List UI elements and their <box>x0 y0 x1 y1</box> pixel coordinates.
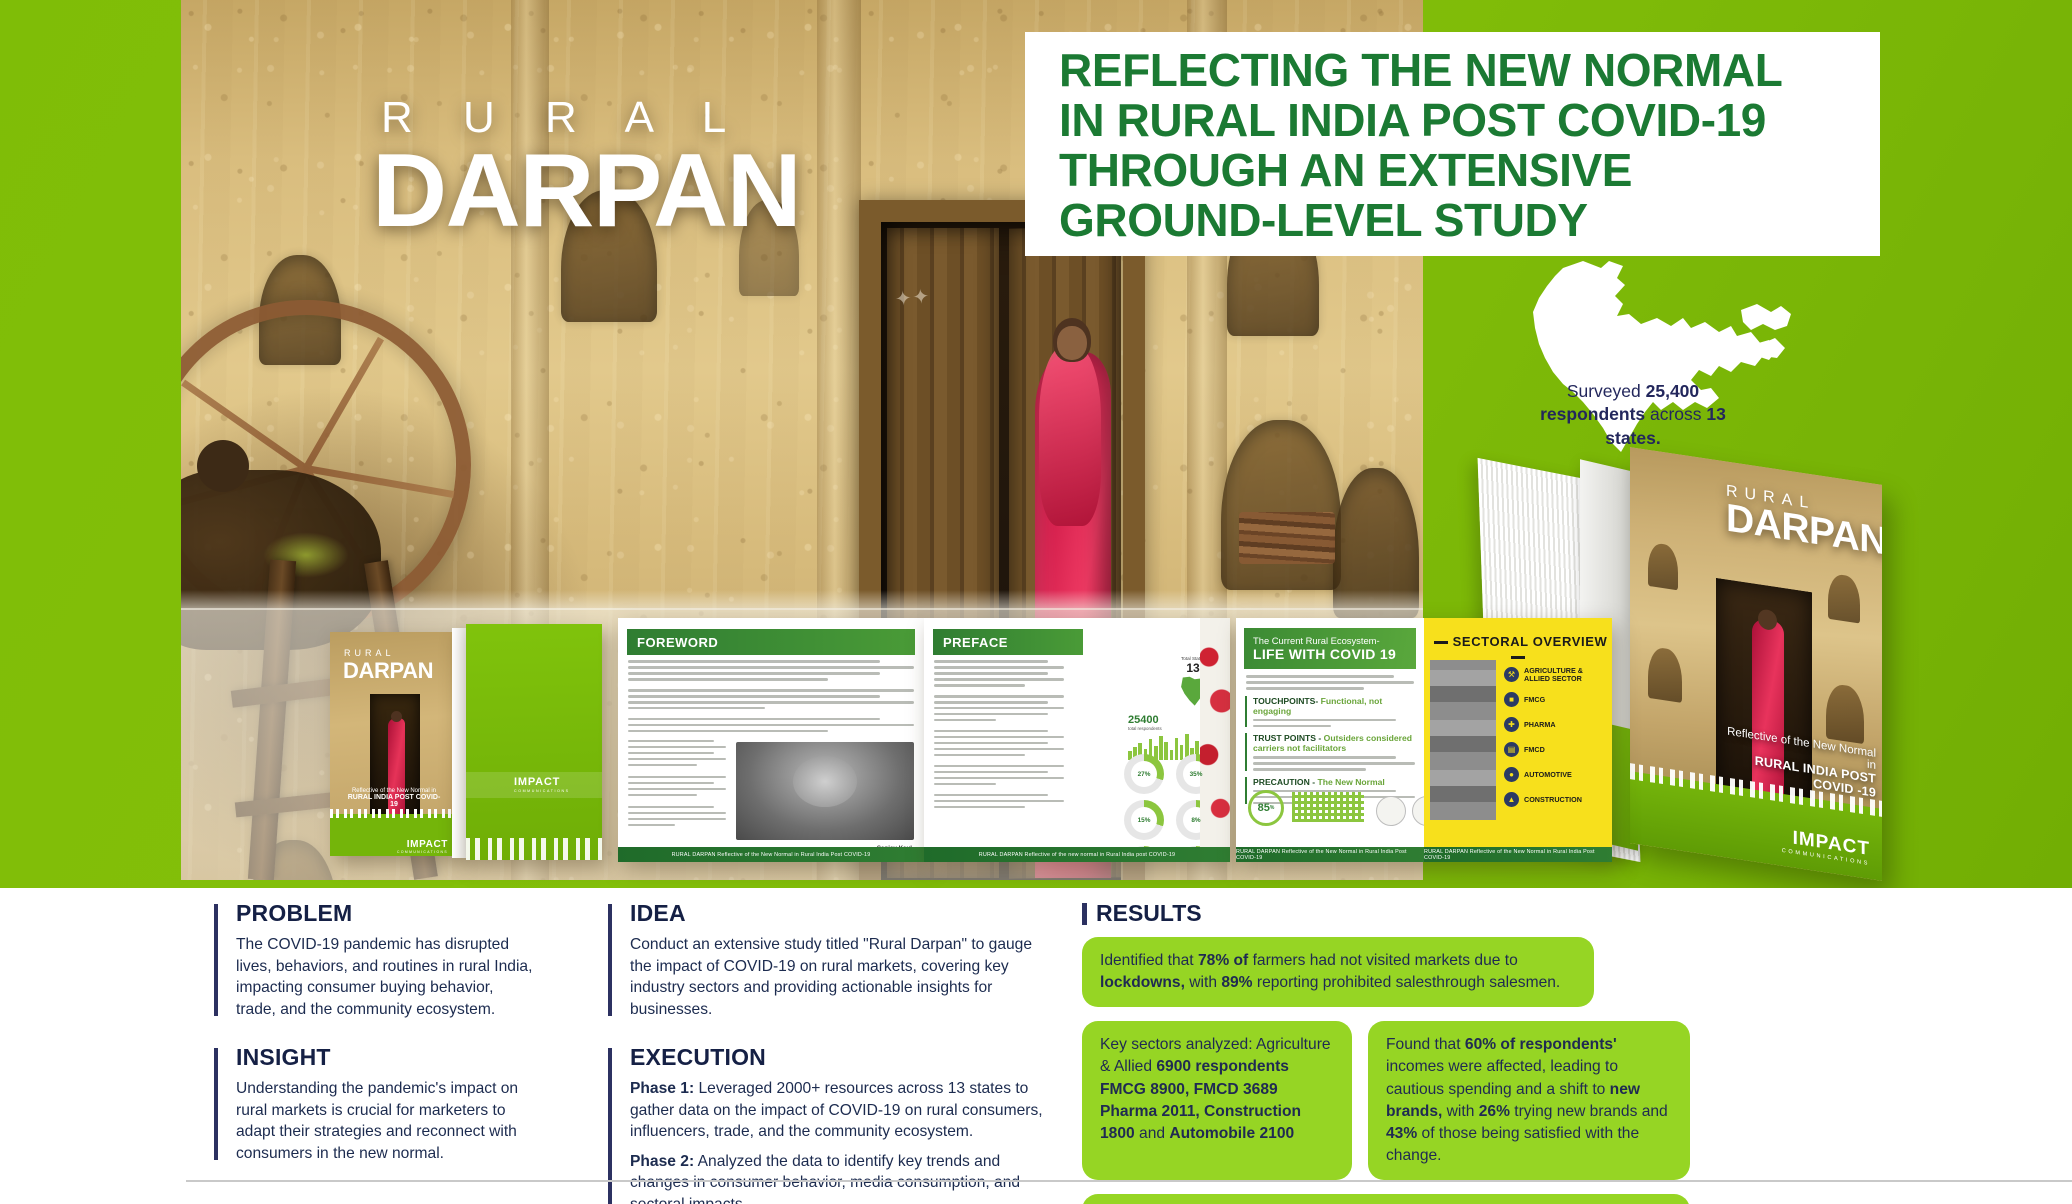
donut-chart: 27% <box>1124 754 1164 794</box>
result-pill-key-sectors: Key sectors analyzed: Agriculture & Alli… <box>1082 1021 1352 1180</box>
phase2-label: Phase 2: <box>630 1153 694 1170</box>
village-skyline-graphic <box>330 809 454 818</box>
brochure-strapline: Reflective of the New Normal in RURAL IN… <box>346 788 442 808</box>
tractor-icon: ⚒ <box>1504 667 1519 682</box>
column-results: RESULTS Identified that 78% of farmers h… <box>1082 900 1722 1204</box>
sector-label: AUTOMOTIVE <box>1524 771 1572 779</box>
impact-logo-subtext: COMMUNICATIONS <box>514 789 570 793</box>
headline-text: REFLECTING THE NEW NORMAL IN RURAL INDIA… <box>1059 46 1782 246</box>
sector-item-pharma: ✚PHARMA <box>1504 712 1604 737</box>
problem-body: The COVID-19 pandemic has disrupted live… <box>236 934 534 1020</box>
survey-respondents-label: respondents <box>1540 404 1650 424</box>
sector-item-agriculture: ⚒AGRICULTURE & ALLIED SECTOR <box>1504 662 1604 687</box>
insight-body: Understanding the pandemic's impact on r… <box>236 1078 534 1164</box>
results-heading: RESULTS <box>1082 900 1722 927</box>
page-footer: RURAL DARPAN Reflective of the new norma… <box>924 847 1230 862</box>
survey-prefix: Surveyed <box>1567 381 1646 401</box>
brochure-title-big: DARPAN <box>343 658 433 684</box>
stat-badge-value: 85 <box>1258 802 1270 814</box>
village-skyline-graphic <box>466 838 602 860</box>
author-portrait-photo <box>736 742 914 840</box>
result-pill-income-impact: Found that 60% of respondents' incomes w… <box>1368 1021 1690 1180</box>
dash-left <box>1434 641 1448 643</box>
firewood-stack <box>1239 512 1335 564</box>
case-study-board: ✦✦ R U R A L DARP <box>0 0 2072 1204</box>
impact-logo: IMPACT COMMUNICATIONS <box>1782 826 1870 867</box>
problem-title: PROBLEM <box>236 900 534 927</box>
survey-callout-text: Surveyed 25,400 respondents across 13 st… <box>1533 380 1733 450</box>
brochure-front-cover: RURAL DARPAN Reflective of the New Norma… <box>330 632 454 856</box>
car-icon: ● <box>1504 767 1519 782</box>
impact-logo-text: IMPACT <box>407 839 448 850</box>
sari-dupatta <box>1039 346 1101 526</box>
section-touchpoints: TOUCHPOINTS- Functional, not engaging <box>1245 696 1415 728</box>
headline-banner: REFLECTING THE NEW NORMAL IN RURAL INDIA… <box>1025 32 1880 256</box>
sector-list: ⚒AGRICULTURE & ALLIED SECTOR ■FMCG ✚PHAR… <box>1504 662 1604 812</box>
section-title: TRUST POINTS - <box>1253 733 1321 743</box>
brochure-cover-head <box>391 711 402 722</box>
donut-pct: 27% <box>1138 771 1151 778</box>
hero-haze-gradient <box>181 590 1423 610</box>
cover-niche <box>1648 646 1682 703</box>
cover-niche <box>1648 542 1678 590</box>
brochure-title-small: RURAL <box>344 648 395 658</box>
wall-title-big: DARPAN <box>372 143 992 240</box>
section-title: TOUCHPOINTS- <box>1253 696 1318 706</box>
execution-phase2: Phase 2: Analyzed the data to identify k… <box>630 1151 1048 1204</box>
page-sectoral-overview: SECTORAL OVERVIEW ⚒AGRICULTURE & ALLIED … <box>1424 618 1612 862</box>
brochure-spread-foreword: FOREWORD <box>618 618 924 862</box>
cover-niche <box>1828 573 1860 624</box>
sector-item-automotive: ●AUTOMOTIVE <box>1504 762 1604 787</box>
idea-title: IDEA <box>630 900 1048 927</box>
brochure-spread-preface: PREFACE Total State <box>924 618 1230 862</box>
india-map-callout: Surveyed 25,400 respondents across 13 st… <box>1505 252 1805 482</box>
sector-label: PHARMA <box>1524 721 1556 729</box>
sector-item-construction: ▲CONSTRUCTION <box>1504 787 1604 812</box>
certification-seal <box>1376 796 1406 826</box>
page-heading-big: LIFE WITH COVID 19 <box>1253 646 1407 662</box>
section-title: PRECAUTION - <box>1253 777 1315 787</box>
page-heading: PREFACE <box>933 629 1083 655</box>
page-footer: RURAL DARPAN Reflective of the New Norma… <box>618 847 924 862</box>
column-idea-execution: IDEA Conduct an extensive study titled "… <box>608 900 1048 1204</box>
sector-label: CONSTRUCTION <box>1524 796 1582 804</box>
block-insight: INSIGHT Understanding the pandemic's imp… <box>214 1044 534 1164</box>
industry-photo-collage <box>1430 660 1496 820</box>
page-foreword: FOREWORD <box>618 618 924 862</box>
stat-badge-85: 85% <box>1248 790 1284 826</box>
page-heading: FOREWORD <box>627 629 915 655</box>
woman-face <box>1057 326 1087 360</box>
sector-item-fmcg: ■FMCG <box>1504 687 1604 712</box>
sector-label: FMCD <box>1524 746 1545 754</box>
survey-count: 25,400 <box>1646 381 1700 401</box>
fridge-icon: ▤ <box>1504 742 1519 757</box>
wheel-hub <box>197 440 249 492</box>
column-problem-insight: PROBLEM The COVID-19 pandemic has disrup… <box>214 900 534 1188</box>
sector-label: FMCG <box>1524 696 1545 704</box>
results-title: RESULTS <box>1096 900 1722 927</box>
impact-logo-subtext: COMMUNICATIONS <box>397 850 448 854</box>
donut-pct: 15% <box>1138 817 1151 824</box>
sector-label: AGRICULTURE & ALLIED SECTOR <box>1524 667 1583 682</box>
crane-icon: ▲ <box>1504 792 1519 807</box>
execution-title: EXECUTION <box>630 1044 1048 1071</box>
dash-right <box>1511 656 1525 658</box>
brochure-strap-line2: RURAL INDIA POST COVID-19 <box>346 794 442 808</box>
sector-item-fmcd: ▤FMCD <box>1504 737 1604 762</box>
donut-chart: 15% <box>1124 800 1164 840</box>
phase1-label: Phase 1: <box>630 1080 694 1097</box>
result-pill-media-consumption: Noted a significant rise in media consum… <box>1082 1194 1690 1204</box>
page-heading-small: The Current Rural Ecosystem- <box>1253 635 1407 646</box>
covid-virus-graphic <box>1200 618 1230 862</box>
result-pill-row: Key sectors analyzed: Agriculture & Alli… <box>1082 1021 1722 1180</box>
brochure-mockup-row: RURAL DARPAN Reflective of the New Norma… <box>300 614 1425 874</box>
insight-title: INSIGHT <box>236 1044 534 1071</box>
brochure-back-cover: IMPACT COMMUNICATIONS <box>466 624 602 860</box>
stat-pictogram-grid <box>1292 792 1364 822</box>
pill-icon: ✚ <box>1504 717 1519 732</box>
cover-niche <box>1826 682 1864 744</box>
sectoral-heading-text: SECTORAL OVERVIEW <box>1453 634 1608 649</box>
stat-badge-unit: % <box>1270 805 1274 811</box>
page-body-text <box>618 660 924 732</box>
block-idea: IDEA Conduct an extensive study titled "… <box>608 900 1048 1020</box>
survey-across: across <box>1650 404 1702 424</box>
brochure-spread-sectoral: The Current Rural Ecosystem- LIFE WITH C… <box>1236 618 1612 862</box>
impact-logo-text: IMPACT <box>514 776 560 788</box>
idea-body: Conduct an extensive study titled "Rural… <box>630 934 1048 1020</box>
page-preface: PREFACE Total State <box>924 618 1230 862</box>
block-problem: PROBLEM The COVID-19 pandemic has disrup… <box>214 900 534 1020</box>
page-footer: RURAL DARPAN Reflective of the New Norma… <box>1236 847 1424 862</box>
bottom-divider <box>186 1180 2072 1182</box>
page-body-text <box>924 660 1074 808</box>
page-intro-text <box>1236 675 1424 690</box>
execution-phase1: Phase 1: Leveraged 2000+ resources acros… <box>630 1078 1048 1143</box>
soap-icon: ■ <box>1504 692 1519 707</box>
book-front-cover: RURAL DARPAN Reflective of the New Norma… <box>1630 447 1882 881</box>
wheel-spoke <box>303 337 384 470</box>
section-emphasis: The New Normal <box>1315 777 1385 787</box>
donut-pct: 35% <box>1190 771 1203 778</box>
page-footer: RURAL DARPAN Reflective of the New Norma… <box>1424 847 1612 862</box>
section-trust-points: TRUST POINTS - Outsiders considered carr… <box>1245 733 1415 771</box>
result-pill-farmers-lockdown: Identified that 78% of farmers had not v… <box>1082 937 1594 1007</box>
page-life-with-covid: The Current Rural Ecosystem- LIFE WITH C… <box>1236 618 1424 862</box>
page-heading-block: The Current Rural Ecosystem- LIFE WITH C… <box>1244 628 1416 669</box>
hero-wall-title: R U R A L DARPAN <box>372 96 992 240</box>
donut-pct: 8% <box>1191 817 1200 824</box>
